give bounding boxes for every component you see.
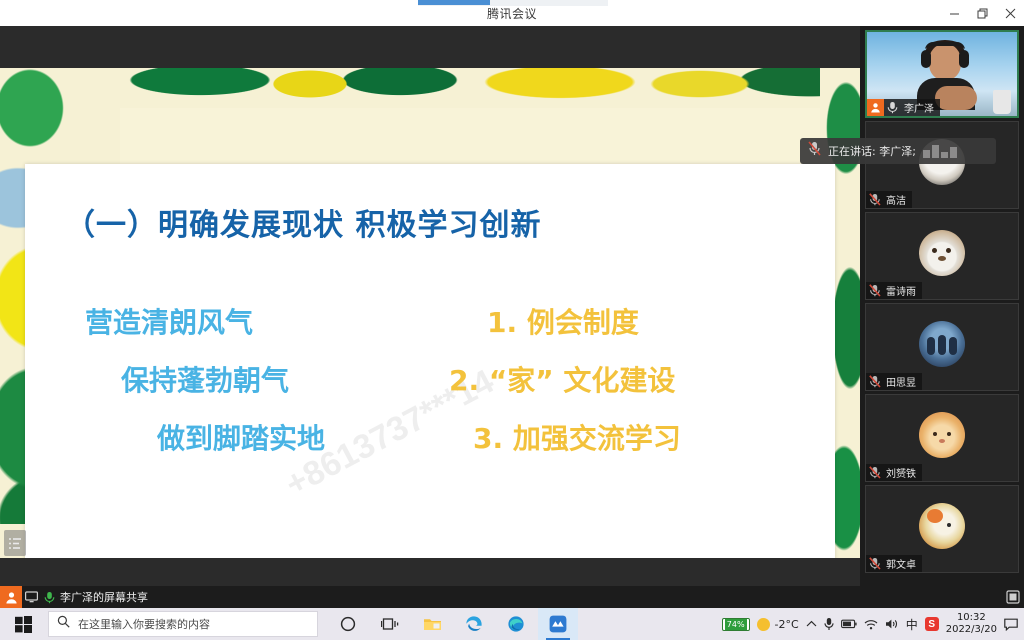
slide-background: （一）明确发展现状 积极学习创新 +8613737***14 营造清朗风气 保持… bbox=[0, 68, 860, 558]
participant-name: 高洁 bbox=[883, 192, 906, 207]
minimize-icon[interactable] bbox=[940, 0, 968, 26]
clock-time: 10:32 bbox=[957, 612, 986, 624]
notification-center-icon[interactable] bbox=[1004, 608, 1018, 640]
avatar bbox=[919, 230, 965, 276]
system-tray: 74% -2°C bbox=[722, 608, 1024, 640]
participant-tile[interactable]: 刘赟铁 bbox=[865, 394, 1019, 482]
participant-label: 高洁 bbox=[866, 191, 912, 208]
active-speaker-toast: 正在讲话: 李广泽; bbox=[800, 138, 996, 164]
sogou-glyph: S bbox=[925, 617, 939, 631]
participant-name: 李广泽 bbox=[901, 100, 934, 115]
wifi-icon[interactable] bbox=[864, 608, 878, 640]
slide-title: （一）明确发展现状 积极学习创新 bbox=[65, 200, 541, 244]
audio-waveform-icon bbox=[923, 145, 957, 158]
participant-label: 田思昱 bbox=[866, 373, 922, 390]
shared-screen-area[interactable]: （一）明确发展现状 积极学习创新 +8613737***14 营造清朗风气 保持… bbox=[0, 26, 860, 586]
decorative-leaves-top bbox=[0, 68, 860, 108]
tencent-meeting-window: 腾讯会议 bbox=[0, 0, 1024, 640]
show-hidden-icons-chevron-up-icon[interactable] bbox=[806, 608, 817, 640]
ime-mode-indicator[interactable]: 中 bbox=[906, 608, 918, 640]
start-button-icon[interactable] bbox=[0, 608, 46, 640]
slide-left-line: 营造清朗风气 bbox=[85, 294, 445, 352]
cortana-icon[interactable] bbox=[328, 608, 368, 640]
slide-left-line: 做到脚踏实地 bbox=[85, 410, 445, 468]
participant-tile[interactable]: 高洁 bbox=[865, 121, 1019, 209]
taskbar-search-input[interactable]: 在这里输入你要搜索的内容 bbox=[48, 611, 318, 637]
cup-object bbox=[993, 90, 1011, 114]
participant-tile[interactable]: 田思昱 bbox=[865, 303, 1019, 391]
screen-share-icon bbox=[22, 586, 40, 608]
task-view-icon[interactable] bbox=[370, 608, 410, 640]
speaking-text: 正在讲话: 李广泽; bbox=[828, 143, 916, 159]
screen-share-banner: 李广泽的屏幕共享 bbox=[0, 586, 1024, 608]
file-explorer-icon[interactable] bbox=[412, 608, 452, 640]
active-tab-indicator[interactable] bbox=[418, 0, 490, 5]
close-icon[interactable] bbox=[996, 0, 1024, 26]
slide-right-column: 1. 例会制度 2. “家” 文化建设 3. 加强交流学习 bbox=[425, 294, 825, 468]
participant-rail[interactable]: 李广泽 高洁 bbox=[860, 26, 1024, 586]
clock-date: 2022/3/20 bbox=[946, 624, 997, 636]
host-badge-icon bbox=[867, 99, 884, 116]
participant-name: 雷诗雨 bbox=[883, 283, 916, 298]
speaking-mic-icon bbox=[808, 141, 821, 161]
slide-left-column: 营造清朗风气 保持蓬勃朝气 做到脚踏实地 bbox=[85, 294, 445, 468]
title-bar: 腾讯会议 bbox=[0, 0, 1024, 26]
participant-tile[interactable]: 郭文卓 bbox=[865, 485, 1019, 573]
mic-muted-icon bbox=[866, 191, 883, 208]
slide-right-line: 1. 例会制度 bbox=[425, 294, 825, 352]
mic-icon bbox=[40, 586, 58, 608]
participant-label: 李广泽 bbox=[867, 99, 940, 116]
participant-label: 刘赟铁 bbox=[866, 464, 922, 481]
avatar bbox=[919, 321, 965, 367]
maximize-restore-icon[interactable] bbox=[968, 0, 996, 26]
temperature-text: -2°C bbox=[775, 618, 799, 631]
share-settings-icon[interactable] bbox=[1006, 590, 1020, 604]
taskbar-app-icons bbox=[328, 608, 578, 640]
battery-percent-text: 74% bbox=[725, 619, 747, 630]
slide-right-line: 3. 加强交流学习 bbox=[425, 410, 825, 468]
slide-right-line: 2. “家” 文化建设 bbox=[425, 352, 825, 410]
taskbar-clock[interactable]: 10:32 2022/3/20 bbox=[946, 608, 997, 640]
edge-icon[interactable] bbox=[496, 608, 536, 640]
battery-percent-badge[interactable]: 74% bbox=[722, 608, 750, 640]
slide-outline-toggle-button[interactable] bbox=[4, 530, 26, 556]
mic-muted-icon bbox=[866, 282, 883, 299]
search-icon bbox=[57, 615, 70, 633]
mic-muted-icon bbox=[866, 464, 883, 481]
windows-taskbar: 在这里输入你要搜索的内容 bbox=[0, 608, 1024, 640]
battery-icon[interactable] bbox=[841, 608, 857, 640]
search-placeholder: 在这里输入你要搜索的内容 bbox=[78, 616, 210, 632]
sun-icon bbox=[757, 618, 770, 631]
host-badge-icon bbox=[0, 586, 22, 608]
participant-label: 雷诗雨 bbox=[866, 282, 922, 299]
participant-label: 郭文卓 bbox=[866, 555, 922, 572]
weather-widget[interactable]: -2°C bbox=[757, 608, 799, 640]
tencent-meeting-icon[interactable] bbox=[538, 608, 578, 640]
participant-name: 田思昱 bbox=[883, 374, 916, 389]
slide-left-line: 保持蓬勃朝气 bbox=[85, 352, 445, 410]
screen-share-chip[interactable]: 李广泽的屏幕共享 bbox=[0, 586, 158, 608]
avatar bbox=[919, 412, 965, 458]
participant-tile[interactable]: 李广泽 bbox=[865, 30, 1019, 118]
participant-name: 刘赟铁 bbox=[883, 465, 916, 480]
mic-muted-icon bbox=[866, 555, 883, 572]
mic-on-icon bbox=[884, 99, 901, 116]
slide-card: （一）明确发展现状 积极学习创新 +8613737***14 营造清朗风气 保持… bbox=[25, 164, 835, 558]
screen-share-text: 李广泽的屏幕共享 bbox=[58, 589, 158, 605]
sogou-input-icon[interactable]: S bbox=[925, 608, 939, 640]
window-title: 腾讯会议 bbox=[487, 5, 537, 22]
edge-legacy-icon[interactable] bbox=[454, 608, 494, 640]
window-controls bbox=[940, 0, 1024, 26]
volume-icon[interactable] bbox=[885, 608, 899, 640]
participant-name: 郭文卓 bbox=[883, 556, 916, 571]
microphone-icon[interactable] bbox=[824, 608, 834, 640]
avatar bbox=[919, 503, 965, 549]
participant-tile[interactable]: 雷诗雨 bbox=[865, 212, 1019, 300]
mic-muted-icon bbox=[866, 373, 883, 390]
